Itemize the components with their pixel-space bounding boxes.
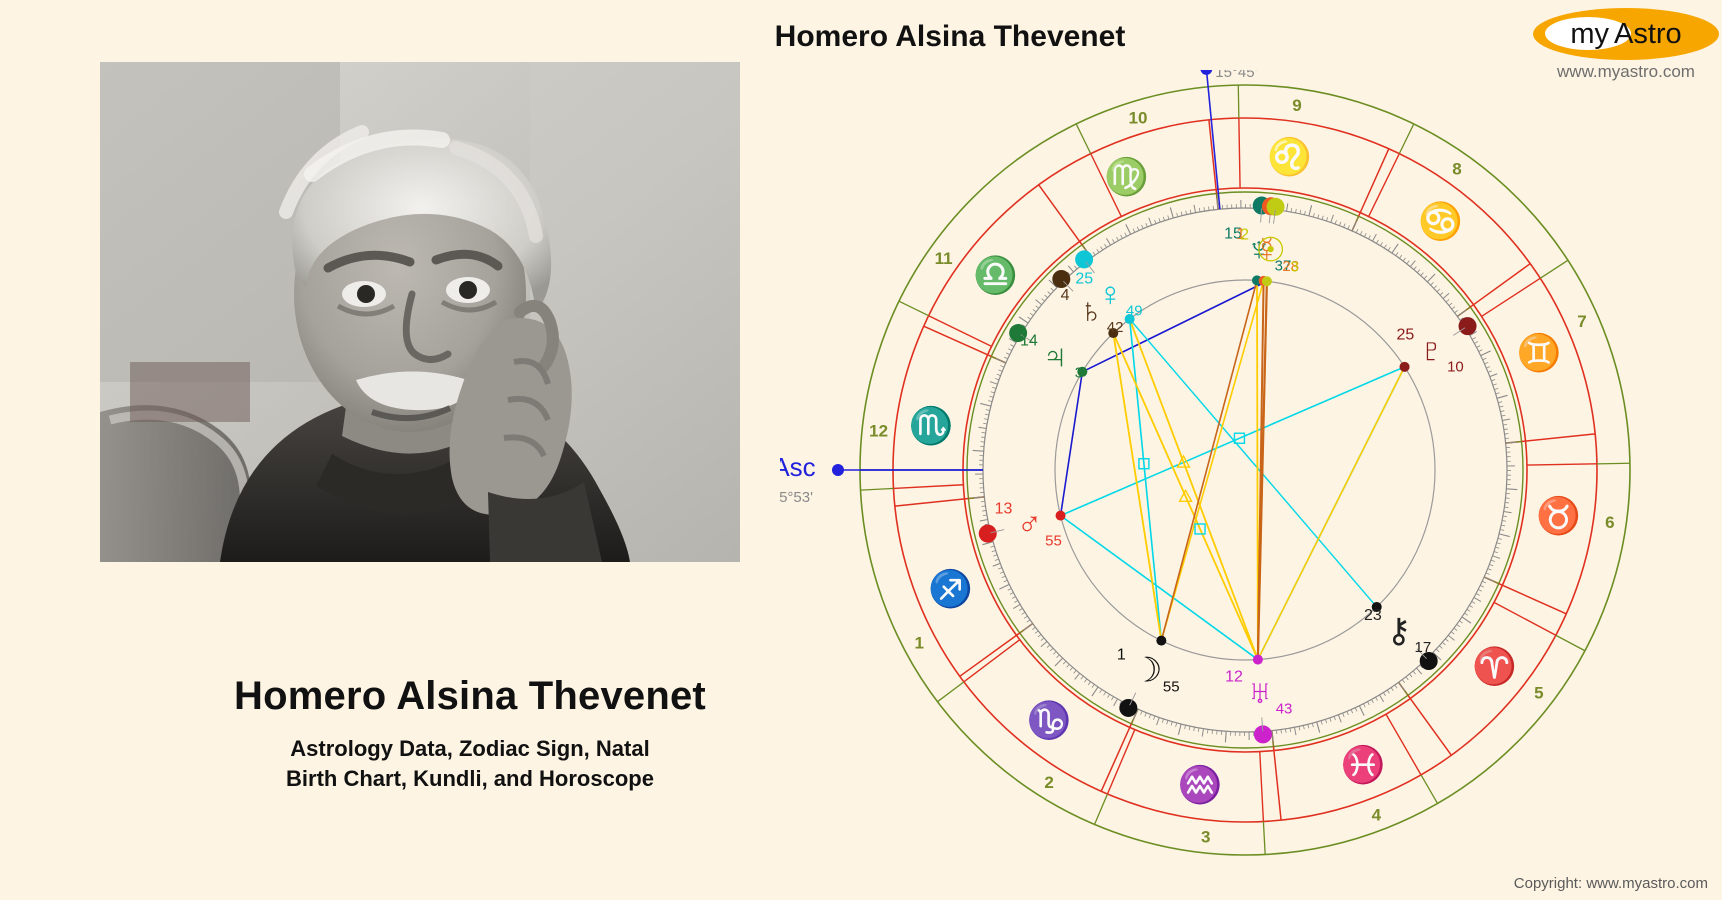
- degree-tick: [1347, 711, 1349, 715]
- degree-ring-outer-circle: [967, 192, 1523, 748]
- planet-degree-jupiter: 14: [1020, 332, 1038, 349]
- aspect-line: [1130, 319, 1162, 641]
- degree-tick: [1322, 216, 1323, 220]
- house-cusp-red-line: [1482, 278, 1541, 316]
- degree-tick: [1392, 244, 1398, 253]
- house-cusp-red-line: [1260, 752, 1264, 822]
- degree-tick: [1312, 723, 1313, 727]
- planet-degree-pluto: 25: [1397, 326, 1415, 343]
- degree-tick: [1092, 687, 1098, 696]
- degree-tick: [1068, 266, 1073, 272]
- degree-tick: [995, 559, 999, 560]
- degree-tick: [989, 396, 993, 397]
- degree-tick: [1446, 299, 1449, 302]
- planet-minute-uranus: 43: [1276, 700, 1293, 717]
- degree-tick: [1309, 205, 1312, 216]
- myastro-logo[interactable]: myAstro: [1533, 8, 1719, 60]
- degree-tick: [1010, 345, 1014, 347]
- degree-tick: [980, 403, 991, 406]
- degree-tick: [1126, 224, 1131, 234]
- degree-tick: [1355, 708, 1357, 712]
- degree-tick: [1149, 714, 1150, 718]
- degree-tick: [1019, 317, 1028, 323]
- degree-tick: [1499, 406, 1503, 407]
- planet-degree-sun: 2: [1240, 226, 1249, 243]
- degree-tick: [1004, 357, 1008, 359]
- degree-tick: [1452, 307, 1455, 309]
- degree-tick: [1379, 695, 1383, 702]
- degree-tick: [1482, 581, 1486, 583]
- planet-marker-venus[interactable]: [1075, 250, 1093, 268]
- degree-tick: [973, 450, 984, 451]
- degree-tick: [1070, 667, 1073, 670]
- house-number-4: 4: [1372, 805, 1382, 824]
- degree-tick: [1081, 676, 1083, 679]
- degree-tick: [1051, 288, 1054, 291]
- degree-tick: [1406, 677, 1408, 680]
- house-number-11: 11: [935, 249, 953, 268]
- page-root: Homero Alsina Thevenet Astrology Data, Z…: [0, 0, 1722, 900]
- subtitle-line-1: Astrology Data, Zodiac Sign, Natal: [100, 734, 840, 764]
- degree-tick: [1467, 609, 1470, 611]
- sign-ring-outer-circle: [893, 118, 1597, 822]
- degree-tick: [1272, 731, 1273, 742]
- degree-tick: [1331, 215, 1334, 223]
- degree-tick: [1372, 234, 1376, 241]
- degree-tick: [1506, 489, 1517, 490]
- degree-tick: [1002, 576, 1006, 578]
- degree-tick: [1291, 208, 1292, 212]
- degree-tick: [986, 410, 990, 411]
- house-number-8: 8: [1452, 160, 1461, 179]
- degree-tick: [983, 423, 987, 424]
- degree-tick: [982, 506, 986, 507]
- degree-tick: [1497, 543, 1501, 544]
- degree-tick: [1004, 580, 1008, 582]
- degree-tick: [1359, 706, 1364, 716]
- planet-minute-pluto: 10: [1447, 358, 1464, 375]
- house-cusp-red-line: [964, 640, 1020, 682]
- house-number-5: 5: [1534, 683, 1543, 702]
- degree-tick: [1448, 635, 1454, 640]
- degree-tick: [1490, 374, 1497, 377]
- degree-tick: [1194, 205, 1196, 213]
- planet-minute-saturn: 42: [1107, 319, 1124, 336]
- planet-degree-moon: 1: [1117, 646, 1126, 663]
- degree-tick: [1163, 217, 1164, 221]
- degree-tick: [1167, 720, 1168, 724]
- subtitle-line-2: Birth Chart, Kundli, and Horoscope: [100, 764, 840, 794]
- degree-tick: [1396, 252, 1398, 255]
- house-cusp-red-line: [1494, 602, 1556, 635]
- degree-tick: [1097, 249, 1099, 252]
- degree-tick: [1050, 648, 1053, 651]
- degree-tick: [1202, 729, 1203, 737]
- degree-tick: [1501, 525, 1505, 526]
- degree-tick: [1494, 551, 1498, 552]
- degree-tick: [1462, 617, 1471, 623]
- degree-tick: [1024, 624, 1033, 630]
- planet-degree-mars: 13: [995, 500, 1013, 517]
- degree-tick: [1075, 673, 1080, 679]
- degree-tick: [1376, 240, 1378, 243]
- degree-tick: [988, 401, 992, 402]
- degree-tick: [995, 379, 999, 380]
- degree-tick: [1352, 221, 1356, 231]
- degree-tick: [1038, 634, 1041, 637]
- degree-tick: [1459, 621, 1462, 623]
- degree-tick: [1489, 564, 1493, 565]
- degree-tick: [1403, 258, 1405, 261]
- degree-tick: [991, 392, 995, 393]
- aspect-line: [1161, 280, 1257, 640]
- degree-tick: [1479, 350, 1483, 352]
- logo-text: myAstro: [1533, 8, 1719, 60]
- zodiac-sign-aries: ♈: [1472, 646, 1517, 687]
- degree-tick: [1145, 713, 1147, 717]
- house-number-1: 1: [915, 633, 924, 652]
- degree-tick: [1100, 689, 1102, 692]
- house-cusp-line: [1095, 794, 1108, 824]
- planet-inner-point-sun: [1262, 276, 1272, 286]
- degree-tick: [1363, 704, 1365, 708]
- planet-minute-chiron: 17: [1415, 639, 1432, 656]
- degree-tick: [1177, 213, 1178, 217]
- degree-tick: [1168, 215, 1169, 219]
- degree-tick: [1427, 274, 1435, 282]
- planet-marker-mars[interactable]: [979, 525, 997, 543]
- planet-inner-point-uranus: [1253, 655, 1263, 665]
- house-cusp-line: [861, 488, 894, 490]
- degree-tick: [1125, 233, 1127, 237]
- degree-tick: [1313, 213, 1314, 217]
- degree-tick: [1501, 415, 1505, 416]
- planet-marker-pluto[interactable]: [1459, 317, 1477, 335]
- degree-tick: [1457, 624, 1460, 626]
- degree-tick: [1299, 726, 1300, 730]
- house-number-6: 6: [1605, 513, 1614, 532]
- angle-degree-asc: 5°53': [780, 489, 813, 506]
- degree-tick: [1281, 730, 1282, 734]
- degree-tick: [1504, 512, 1512, 513]
- degree-tick: [1290, 728, 1291, 732]
- portrait-photo: [100, 62, 740, 562]
- person-name: Homero Alsina Thevenet: [100, 674, 840, 719]
- degree-tick: [1053, 652, 1056, 655]
- degree-tick: [1036, 306, 1039, 308]
- angle-degree-mc: 15°45': [1215, 70, 1257, 81]
- degree-tick: [1409, 674, 1412, 677]
- degree-tick: [1207, 729, 1208, 733]
- sign-ring-inner-circle: [963, 188, 1527, 752]
- degree-tick: [1416, 668, 1421, 674]
- degree-tick: [1084, 679, 1086, 682]
- house-number-9: 9: [1292, 96, 1301, 115]
- degree-tick: [1505, 434, 1509, 435]
- degree-tick: [984, 419, 988, 420]
- degree-tick: [1041, 638, 1044, 641]
- house-cusp-line: [1597, 463, 1630, 464]
- zodiac-sign-sagittarius: ♐: [928, 568, 973, 609]
- degree-tick: [1317, 722, 1320, 733]
- degree-tick: [1321, 721, 1322, 725]
- degree-tick: [1181, 212, 1182, 216]
- degree-tick: [993, 555, 997, 556]
- zodiac-sign-aquarius: ♒: [1178, 764, 1223, 805]
- degree-tick: [1027, 317, 1030, 319]
- planet-marker-sun[interactable]: [1267, 198, 1285, 216]
- degree-tick: [1451, 632, 1454, 634]
- degree-tick: [1027, 620, 1030, 622]
- planet-glyph-moon: ☽: [1132, 651, 1162, 689]
- degree-tick: [1171, 722, 1172, 726]
- degree-tick: [1500, 529, 1504, 530]
- degree-tick: [1022, 612, 1025, 614]
- degree-tick: [1146, 223, 1147, 227]
- degree-tick: [1142, 225, 1144, 229]
- degree-tick: [1198, 728, 1199, 732]
- degree-tick: [1410, 261, 1415, 267]
- chart-heading: Homero Alsina Thevenet: [770, 20, 1130, 54]
- angle-label-asc: Asc: [780, 452, 816, 482]
- angle-point-asc: [832, 464, 844, 476]
- degree-tick: [1030, 313, 1033, 315]
- degree-tick: [1503, 516, 1507, 517]
- degree-tick: [1114, 699, 1118, 706]
- degree-tick: [1176, 723, 1177, 727]
- degree-tick: [1455, 310, 1458, 312]
- degree-tick: [1088, 682, 1090, 685]
- degree-tick: [1048, 292, 1051, 295]
- logo-text-astro: Astro: [1614, 18, 1682, 51]
- degree-tick: [1496, 393, 1500, 394]
- degree-tick: [993, 563, 1000, 566]
- degree-tick: [1407, 261, 1409, 264]
- degree-tick: [1190, 210, 1191, 214]
- degree-tick: [1413, 671, 1416, 674]
- degree-tick: [1155, 220, 1156, 224]
- aspect-line: [1130, 319, 1377, 607]
- degree-tick: [1204, 207, 1205, 211]
- degree-tick: [1093, 252, 1095, 255]
- zodiac-sign-libra: ♎: [973, 254, 1018, 295]
- zodiac-sign-cancer: ♋: [1418, 201, 1463, 242]
- planet-marker-moon[interactable]: [1119, 699, 1137, 717]
- degree-tick: [1497, 395, 1508, 398]
- degree-tick: [1325, 719, 1326, 723]
- degree-tick: [998, 568, 1002, 569]
- degree-tick: [983, 515, 987, 516]
- degree-tick: [1013, 604, 1020, 608]
- house-number-7: 7: [1577, 312, 1586, 331]
- natal-chart-wheel: ♍♌♋♊♉♈♓♒♑♐♏♎109876543211211♃143♄442♀2549…: [780, 70, 1710, 885]
- degree-tick: [1368, 235, 1370, 239]
- degree-tick: [1477, 346, 1481, 348]
- logo-text-my: my: [1570, 18, 1609, 51]
- house-number-12: 12: [869, 422, 888, 441]
- degree-tick: [1074, 670, 1077, 673]
- degree-tick: [1491, 560, 1495, 561]
- degree-tick: [1300, 210, 1301, 214]
- degree-tick: [1338, 715, 1341, 722]
- degree-tick: [1493, 384, 1497, 385]
- degree-tick: [1304, 211, 1305, 215]
- degree-tick: [1189, 726, 1190, 730]
- degree-tick: [1225, 731, 1226, 742]
- degree-tick: [1185, 725, 1186, 729]
- degree-tick: [1308, 724, 1309, 728]
- degree-tick: [1217, 198, 1218, 209]
- degree-tick: [1498, 402, 1502, 403]
- degree-tick: [1133, 229, 1135, 233]
- degree-tick: [1376, 697, 1378, 700]
- degree-tick: [1112, 697, 1114, 700]
- degree-tick: [1318, 214, 1319, 218]
- degree-tick: [1012, 597, 1016, 599]
- planet-degree-chiron: 23: [1364, 607, 1382, 624]
- degree-tick: [1199, 208, 1200, 212]
- degree-tick: [999, 370, 1003, 372]
- aspect-line: [1258, 367, 1405, 660]
- house-cusp-line: [1421, 775, 1438, 804]
- degree-tick: [1008, 349, 1012, 351]
- degree-tick: [1057, 655, 1060, 658]
- degree-tick: [1137, 227, 1139, 231]
- degree-tick: [982, 432, 986, 433]
- degree-tick: [990, 546, 994, 547]
- degree-tick: [999, 584, 1009, 589]
- angle-line-mc: [1206, 70, 1220, 209]
- degree-tick: [1483, 358, 1487, 360]
- planet-minute-moon: 55: [1163, 678, 1180, 695]
- house-cusp-line: [938, 682, 964, 702]
- degree-tick: [1384, 245, 1386, 248]
- degree-tick: [1476, 593, 1480, 595]
- house-cusp-red-line: [893, 485, 963, 489]
- degree-tick: [1035, 631, 1038, 633]
- planet-degree-venus: 25: [1075, 271, 1093, 288]
- degree-tick: [1488, 371, 1492, 372]
- degree-tick: [973, 497, 984, 498]
- degree-tick: [1439, 646, 1442, 649]
- degree-tick: [1360, 231, 1362, 235]
- degree-tick: [1434, 286, 1437, 289]
- degree-tick: [1000, 572, 1004, 574]
- degree-tick: [1296, 209, 1297, 213]
- degree-tick: [1041, 641, 1047, 646]
- house-cusp-line: [1540, 260, 1568, 278]
- degree-tick: [1486, 367, 1490, 369]
- degree-tick: [1000, 366, 1004, 368]
- degree-tick: [1449, 303, 1452, 306]
- planet-glyph-mars: ♂: [1017, 505, 1043, 543]
- degree-tick: [990, 382, 998, 385]
- planet-glyph-sun: ☉: [1255, 231, 1285, 269]
- degree-tick: [1494, 388, 1498, 389]
- planet-glyph-venus: ♀: [1097, 276, 1123, 314]
- degree-tick: [1186, 211, 1187, 215]
- degree-tick: [1442, 642, 1445, 645]
- house-cusp-red-line: [1239, 118, 1240, 188]
- degree-tick: [1141, 711, 1143, 715]
- chart-svg: ♍♌♋♊♉♈♓♒♑♐♏♎109876543211211♃143♄442♀2549…: [780, 70, 1710, 880]
- degree-tick: [1498, 538, 1502, 539]
- degree-tick: [1484, 577, 1494, 581]
- degree-tick: [1440, 292, 1443, 295]
- degree-tick: [1014, 601, 1017, 603]
- degree-tick: [1437, 289, 1440, 292]
- degree-tick: [1339, 222, 1340, 226]
- degree-tick: [1500, 411, 1504, 412]
- degree-tick: [1105, 244, 1107, 247]
- degree-tick: [1042, 299, 1045, 302]
- degree-tick: [1326, 217, 1327, 221]
- degree-tick: [1351, 710, 1353, 714]
- portrait-block: Homero Alsina Thevenet Astrology Data, Z…: [100, 62, 740, 562]
- planet-glyph-jupiter: ♃: [1042, 337, 1068, 375]
- degree-tick: [1387, 690, 1389, 693]
- degree-tick: [1112, 239, 1114, 242]
- degree-tick: [1502, 521, 1506, 522]
- degree-tick: [1036, 300, 1042, 305]
- degree-tick: [1399, 682, 1405, 691]
- degree-tick: [1399, 255, 1401, 258]
- degree-tick: [1472, 601, 1475, 603]
- degree-tick: [1504, 429, 1508, 430]
- degree-tick: [1033, 309, 1036, 311]
- zodiac-sign-leo: ♌: [1267, 136, 1312, 177]
- degree-tick: [1032, 627, 1035, 629]
- planet-inner-point-pluto: [1400, 362, 1410, 372]
- degree-tick: [1391, 688, 1393, 691]
- degree-tick: [1194, 727, 1195, 731]
- degree-tick: [1162, 719, 1163, 723]
- degree-tick: [1356, 229, 1358, 233]
- degree-tick: [1488, 569, 1492, 571]
- degree-tick: [1063, 661, 1066, 664]
- degree-tick: [996, 358, 1006, 362]
- degree-tick: [1008, 588, 1012, 590]
- degree-tick: [1486, 573, 1490, 575]
- degree-tick: [1383, 692, 1385, 695]
- degree-tick: [1159, 218, 1160, 222]
- degree-tick: [980, 519, 988, 521]
- degree-tick: [1372, 699, 1374, 703]
- degree-tick: [997, 374, 1001, 375]
- degree-tick: [1154, 716, 1155, 720]
- degree-tick: [1478, 589, 1482, 591]
- house-number-3: 3: [1201, 827, 1210, 846]
- degree-tick: [1431, 282, 1434, 285]
- degree-tick: [1469, 605, 1472, 607]
- degree-tick: [1380, 242, 1382, 245]
- degree-tick: [1493, 556, 1501, 559]
- degree-tick: [1502, 419, 1510, 421]
- degree-tick: [1101, 247, 1103, 250]
- degree-tick: [1024, 616, 1027, 618]
- degree-tick: [1506, 442, 1517, 443]
- aspect-line: [1113, 333, 1161, 641]
- degree-tick: [1481, 351, 1491, 356]
- degree-tick: [1495, 547, 1499, 548]
- degree-tick: [1209, 207, 1210, 211]
- angle-point-mc: [1200, 70, 1212, 75]
- zodiac-sign-gemini: ♊: [1517, 332, 1562, 373]
- degree-tick: [1335, 220, 1336, 224]
- degree-tick: [1178, 724, 1181, 735]
- degree-tick: [1294, 727, 1296, 735]
- degree-tick: [1287, 203, 1288, 211]
